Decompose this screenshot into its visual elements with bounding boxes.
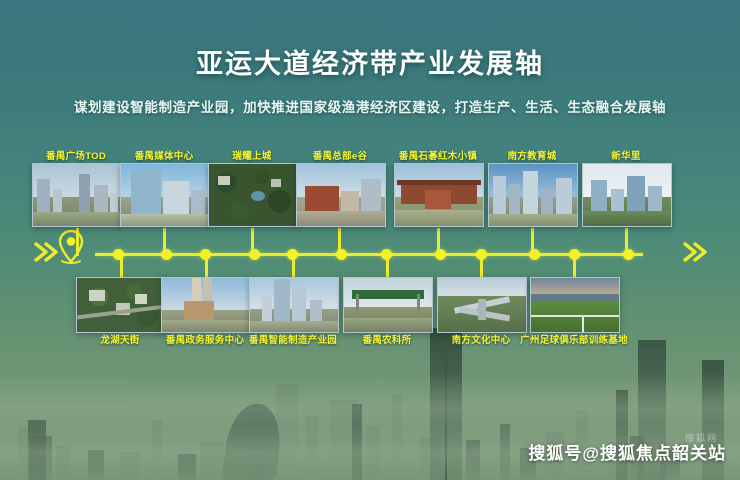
project-label: 南方教育城 <box>507 148 556 162</box>
project-card-top[interactable]: 番禺总部e谷 <box>296 163 384 225</box>
project-card-bottom[interactable]: 番禺智能制造产业园 <box>249 277 337 331</box>
project-label: 瑞耀上城 <box>232 148 271 162</box>
timeline-node[interactable] <box>200 249 211 260</box>
double-chevron-right-icon-right <box>681 236 709 268</box>
project-card-bottom[interactable]: 南方文化中心 <box>437 277 525 331</box>
project-card-top[interactable]: 番禺石碁红木小镇 <box>394 163 482 225</box>
timeline-node[interactable] <box>435 249 446 260</box>
thumbnail-photo <box>208 163 298 227</box>
project-label: 番禺广场TOD <box>46 148 106 162</box>
timeline-node[interactable] <box>529 249 540 260</box>
project-label: 龙湖天街 <box>100 332 139 346</box>
project-label: 番禺总部e谷 <box>313 148 368 162</box>
project-card-top[interactable]: 瑞耀上城 <box>208 163 296 225</box>
timeline-node[interactable] <box>569 249 580 260</box>
project-card-top[interactable]: 番禺媒体中心 <box>120 163 208 225</box>
project-card-top[interactable]: 新华里 <box>582 163 670 225</box>
thumbnail-photo <box>249 277 339 333</box>
project-label: 番禺政务服务中心 <box>166 332 244 346</box>
project-label: 广州足球俱乐部训练基地 <box>520 332 628 346</box>
timeline-node[interactable] <box>113 249 124 260</box>
infographic-poster: 亚运大道经济带产业发展轴 谋划建设智能制造产业园，加快推进国家级渔港经济区建设，… <box>0 0 740 480</box>
thumbnail-photo <box>296 163 386 227</box>
timeline-node[interactable] <box>336 249 347 260</box>
map-pin-icon <box>54 228 88 268</box>
timeline-node[interactable] <box>476 249 487 260</box>
timeline-node[interactable] <box>287 249 298 260</box>
thumbnail-photo <box>488 163 578 227</box>
connector-stem <box>76 228 79 256</box>
thumbnail-photo <box>582 163 672 227</box>
project-label: 番禺石碁红木小镇 <box>399 148 477 162</box>
watermark: 搜狐号@搜狐焦点韶关站 <box>528 439 726 464</box>
project-card-bottom[interactable]: 番禺农科所 <box>343 277 431 331</box>
project-card-bottom[interactable]: 番禺政务服务中心 <box>161 277 249 331</box>
thumbnail-photo <box>343 277 433 333</box>
timeline-node[interactable] <box>249 249 260 260</box>
project-label: 新华里 <box>611 148 640 162</box>
timeline-axis <box>95 253 643 256</box>
project-card-top[interactable]: 番禺广场TOD <box>32 163 120 225</box>
thumbnail-photo <box>394 163 484 227</box>
timeline-node[interactable] <box>161 249 172 260</box>
page-title: 亚运大道经济带产业发展轴 <box>0 42 740 81</box>
project-card-top[interactable]: 南方教育城 <box>488 163 576 225</box>
thumbnail-photo <box>120 163 210 227</box>
thumbnail-photo <box>161 277 251 333</box>
thumbnail-photo <box>32 163 122 227</box>
project-label: 番禺智能制造产业园 <box>249 332 337 346</box>
timeline-node[interactable] <box>381 249 392 260</box>
page-subtitle: 谋划建设智能制造产业园，加快推进国家级渔港经济区建设，打造生产、生活、生态融合发… <box>0 96 740 116</box>
timeline-node[interactable] <box>623 249 634 260</box>
project-card-bottom[interactable]: 广州足球俱乐部训练基地 <box>530 277 618 331</box>
thumbnail-photo <box>76 277 166 333</box>
project-label: 南方文化中心 <box>452 332 511 346</box>
project-label: 番禺农科所 <box>362 332 411 346</box>
thumbnail-photo <box>530 277 620 333</box>
thumbnail-photo <box>437 277 527 333</box>
project-card-bottom[interactable]: 龙湖天街 <box>76 277 164 331</box>
project-label: 番禺媒体中心 <box>135 148 194 162</box>
